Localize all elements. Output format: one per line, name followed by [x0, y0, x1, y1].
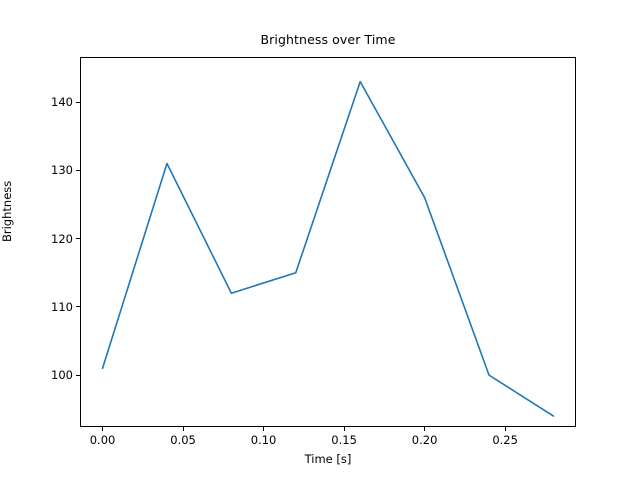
x-tick-mark — [102, 427, 103, 431]
x-tick-mark — [344, 427, 345, 431]
x-tick-label: 0.10 — [251, 433, 277, 447]
matplotlib-figure: Brightness over Time 100110120130140 0.0… — [0, 0, 640, 480]
y-tick-label: 110 — [29, 300, 73, 314]
y-axis-label: Brightness — [0, 181, 14, 242]
y-tick-mark — [76, 170, 80, 171]
x-tick-mark — [424, 427, 425, 431]
x-tick-label: 0.15 — [331, 433, 357, 447]
brightness-data-line — [103, 82, 554, 417]
x-tick-label: 0.00 — [90, 433, 116, 447]
page-title: Brightness over Time — [80, 32, 576, 47]
x-tick-mark — [505, 427, 506, 431]
y-tick-label: 130 — [29, 163, 73, 177]
line-chart-plot — [80, 57, 576, 427]
x-tick-label: 0.20 — [412, 433, 438, 447]
x-axis-label: Time [s] — [80, 452, 576, 466]
y-tick-label: 140 — [29, 95, 73, 109]
x-tick-label: 0.25 — [492, 433, 518, 447]
y-tick-mark — [76, 102, 80, 103]
y-tick-mark — [76, 306, 80, 307]
y-tick-mark — [76, 375, 80, 376]
y-tick-label: 120 — [29, 232, 73, 246]
x-tick-label: 0.05 — [170, 433, 196, 447]
x-tick-mark — [263, 427, 264, 431]
x-tick-mark — [183, 427, 184, 431]
y-tick-label: 100 — [29, 368, 73, 382]
y-tick-mark — [76, 238, 80, 239]
